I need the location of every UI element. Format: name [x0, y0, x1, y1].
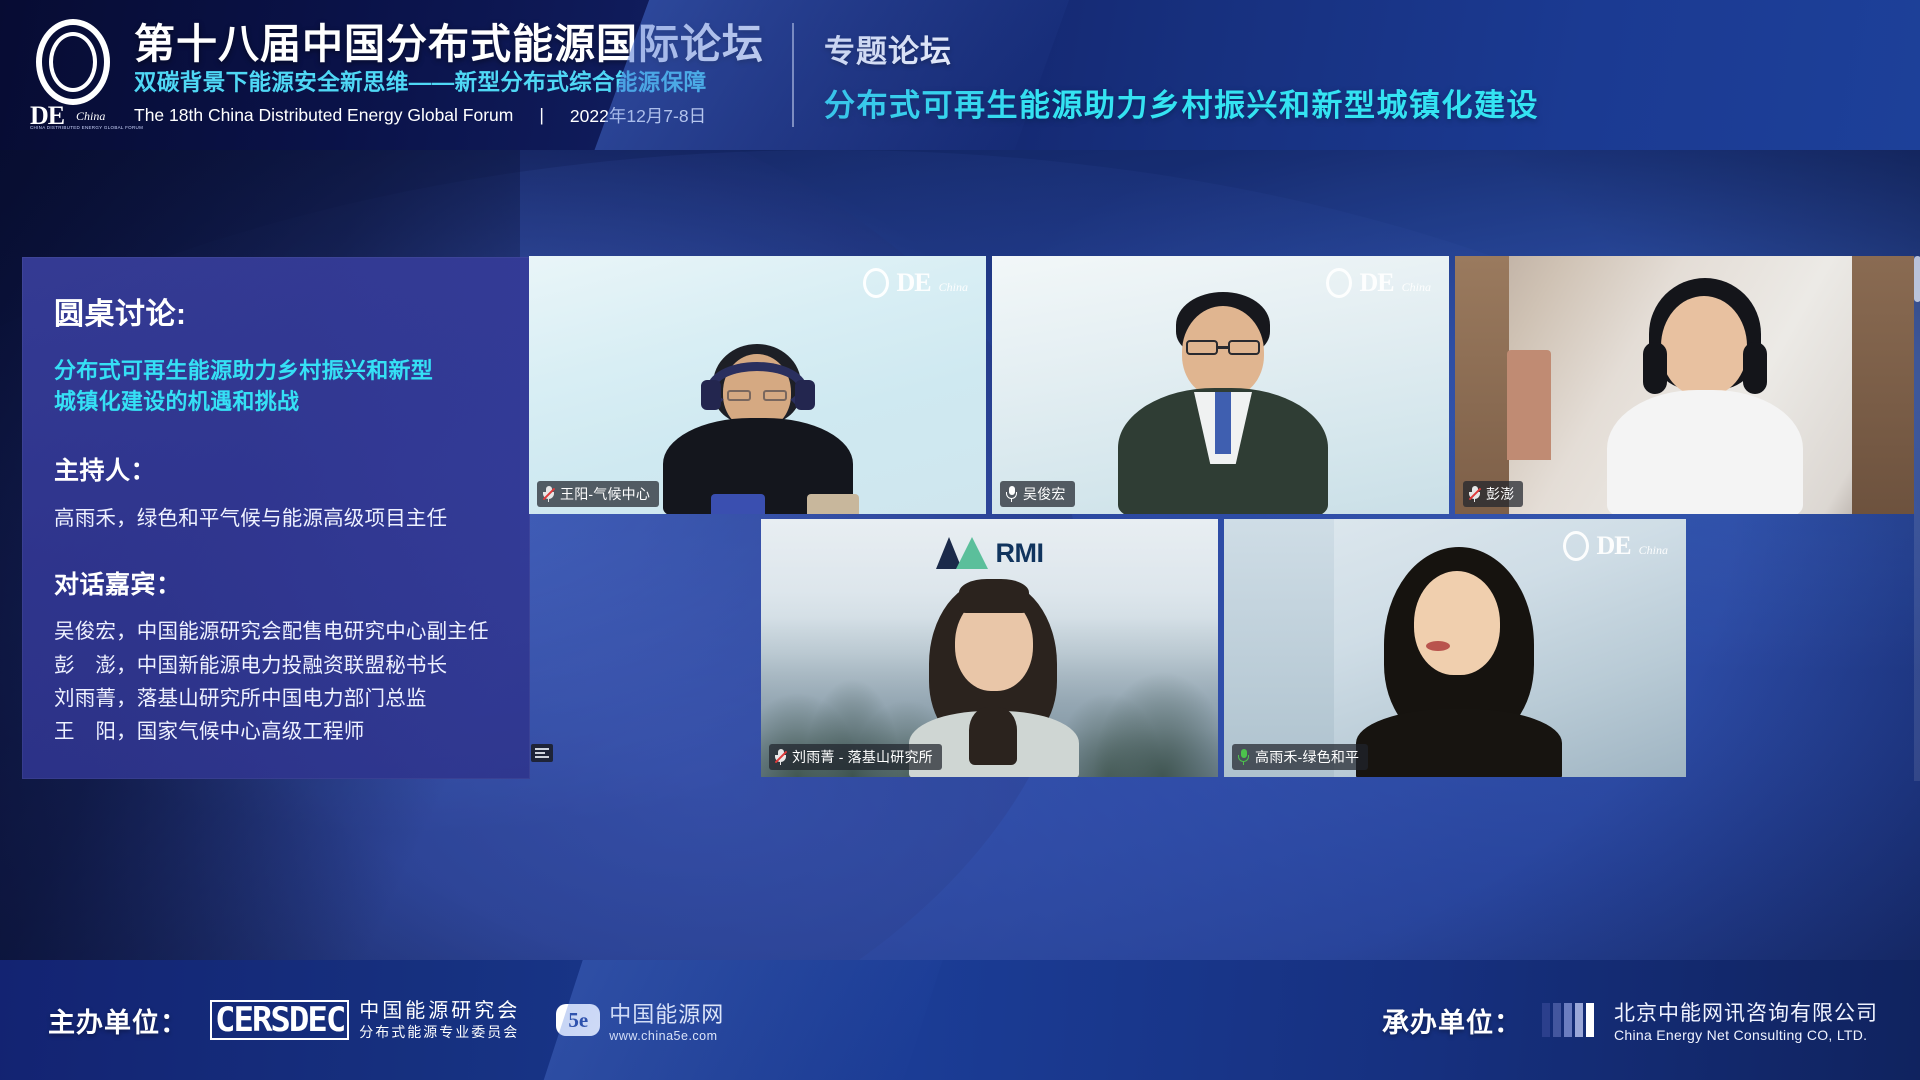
rmi-logo-icon: RMI	[936, 537, 1044, 569]
forum-title-cn: 第十八届中国分布式能源国际论坛	[134, 22, 764, 66]
participant-name-badge: 吴俊宏	[1000, 481, 1075, 507]
participant-name-badge: 王阳-气候中心	[537, 481, 659, 507]
organizer-name-cn: 北京中能网讯咨询有限公司	[1614, 997, 1878, 1027]
moderator-name: 高雨禾，绿色和平气候与能源高级项目主任	[54, 501, 500, 531]
microphone-icon	[1006, 486, 1017, 502]
tile-liuyujing[interactable]: RMI 刘雨菁 - 落基山研究所	[761, 519, 1218, 777]
rmi-logo-text: RMI	[996, 540, 1044, 567]
participant-name: 彭澎	[1486, 484, 1514, 504]
participant-silhouette	[1352, 547, 1582, 777]
participant-name: 王阳-气候中心	[560, 484, 650, 504]
host-sponsors: 主办单位： CERSDEC 中国能源研究会 分布式能源专业委员会 5e 中国能源…	[48, 960, 724, 1080]
panel-topic-line1: 分布式可再生能源助力乡村振兴和新型	[54, 355, 500, 386]
microphone-muted-icon	[775, 749, 786, 765]
participant-name: 吴俊宏	[1023, 484, 1066, 504]
panel-topic-line2: 城镇化建设的机遇和挑战	[54, 386, 500, 417]
list-item: 吴俊宏，中国能源研究会配售电研究中心副主任	[54, 615, 500, 648]
organizer-block: 承办单位： 北京中能网讯咨询有限公司 China Energy Net Cons…	[1382, 960, 1878, 1080]
forum-header: DE China CHINA DISTRIBUTED ENERGY GLOBAL…	[0, 0, 1920, 150]
session-title: 分布式可再生能源助力乡村振兴和新型城镇化建设	[824, 80, 1539, 125]
organizer-bars-icon	[1542, 1003, 1594, 1037]
header-title-block: 第十八届中国分布式能源国际论坛 双碳背景下能源安全新思维——新型分布式综合能源保…	[134, 22, 764, 128]
guests-list: 吴俊宏，中国能源研究会配售电研究中心副主任 彭 澎，中国新能源电力投融资联盟秘书…	[54, 615, 500, 748]
video-grid-scrollbar-thumb[interactable]	[1914, 256, 1920, 302]
host-label: 主办单位：	[48, 1001, 188, 1040]
forum-title-en-row: The 18th China Distributed Energy Global…	[134, 103, 764, 128]
china5e-name: 中国能源网	[609, 997, 724, 1029]
session-label: 专题论坛	[824, 26, 1539, 71]
list-item: 刘雨菁，落基山研究所中国电力部门总监	[54, 682, 500, 715]
china5e-mark: 5e	[556, 1004, 600, 1036]
cers-dec-logo: CERSDEC 中国能源研究会 分布式能源专业委员会	[210, 999, 520, 1042]
guests-heading: 对话嘉宾：	[54, 565, 500, 601]
tile-wujunhong[interactable]: DEChina 吴俊宏	[992, 256, 1449, 514]
video-conference-grid: DEChina 王阳-气候中心	[529, 256, 1920, 781]
sponsor-footer: 主办单位： CERSDEC 中国能源研究会 分布式能源专业委员会 5e 中国能源…	[0, 960, 1920, 1080]
cers-acronym: CERSDEC	[210, 1000, 349, 1040]
list-item: 王 阳，国家气候中心高级工程师	[54, 715, 500, 748]
video-grid-scrollbar[interactable]	[1914, 256, 1920, 781]
forum-date: 2022年12月7-8日	[570, 103, 706, 128]
grid-layout-button[interactable]	[531, 744, 553, 762]
china5e-url: www.china5e.com	[609, 1029, 724, 1043]
moderator-heading: 主持人：	[54, 451, 500, 487]
participant-silhouette	[1605, 278, 1805, 514]
panel-title: 圆桌讨论:	[54, 289, 500, 333]
participant-name-badge: 彭澎	[1463, 481, 1523, 507]
participant-name: 刘雨菁 - 落基山研究所	[792, 747, 933, 767]
microphone-muted-icon	[543, 486, 554, 502]
presentation-stage: DE China CHINA DISTRIBUTED ENERGY GLOBAL…	[0, 0, 1920, 1080]
panel-topic: 分布式可再生能源助力乡村振兴和新型 城镇化建设的机遇和挑战	[54, 355, 500, 417]
forum-subtitle-cn: 双碳背景下能源安全新思维——新型分布式综合能源保障	[134, 68, 764, 98]
session-block: 专题论坛 分布式可再生能源助力乡村振兴和新型城镇化建设	[824, 26, 1539, 125]
logo-china-text: China	[76, 109, 105, 124]
participant-name-badge: 刘雨菁 - 落基山研究所	[769, 744, 942, 770]
microphone-muted-icon	[1469, 486, 1480, 502]
participant-silhouette	[657, 344, 857, 514]
microphone-active-icon	[1238, 749, 1249, 765]
roundtable-info-panel: 圆桌讨论: 分布式可再生能源助力乡村振兴和新型 城镇化建设的机遇和挑战 主持人：…	[22, 257, 530, 779]
tile-gaoyuhe[interactable]: DEChina 高雨禾-绿色和平	[1224, 519, 1686, 777]
forum-title-en: The 18th China Distributed Energy Global…	[134, 105, 513, 126]
participant-name: 高雨禾-绿色和平	[1255, 747, 1359, 767]
header-vertical-divider	[792, 23, 794, 127]
header-separator: |	[539, 105, 544, 126]
china5e-logo: 5e 中国能源网 www.china5e.com	[556, 997, 724, 1043]
logo-tagline-text: CHINA DISTRIBUTED ENERGY GLOBAL FORUM	[30, 125, 143, 130]
cers-name-line1: 中国能源研究会	[359, 999, 520, 1024]
de-china-logo-icon: DE China CHINA DISTRIBUTED ENERGY GLOBAL…	[28, 17, 120, 133]
participant-silhouette	[1118, 292, 1328, 514]
organizer-name-en: China Energy Net Consulting CO, LTD.	[1614, 1027, 1878, 1043]
organizer-label: 承办单位：	[1382, 1001, 1522, 1040]
cers-name-line2: 分布式能源专业委员会	[359, 1024, 520, 1042]
tile-wangyang[interactable]: DEChina 王阳-气候中心	[529, 256, 986, 514]
tile-pengpeng[interactable]: 彭澎	[1455, 256, 1914, 514]
participant-name-badge: 高雨禾-绿色和平	[1232, 744, 1368, 770]
list-item: 彭 澎，中国新能源电力投融资联盟秘书长	[54, 649, 500, 682]
